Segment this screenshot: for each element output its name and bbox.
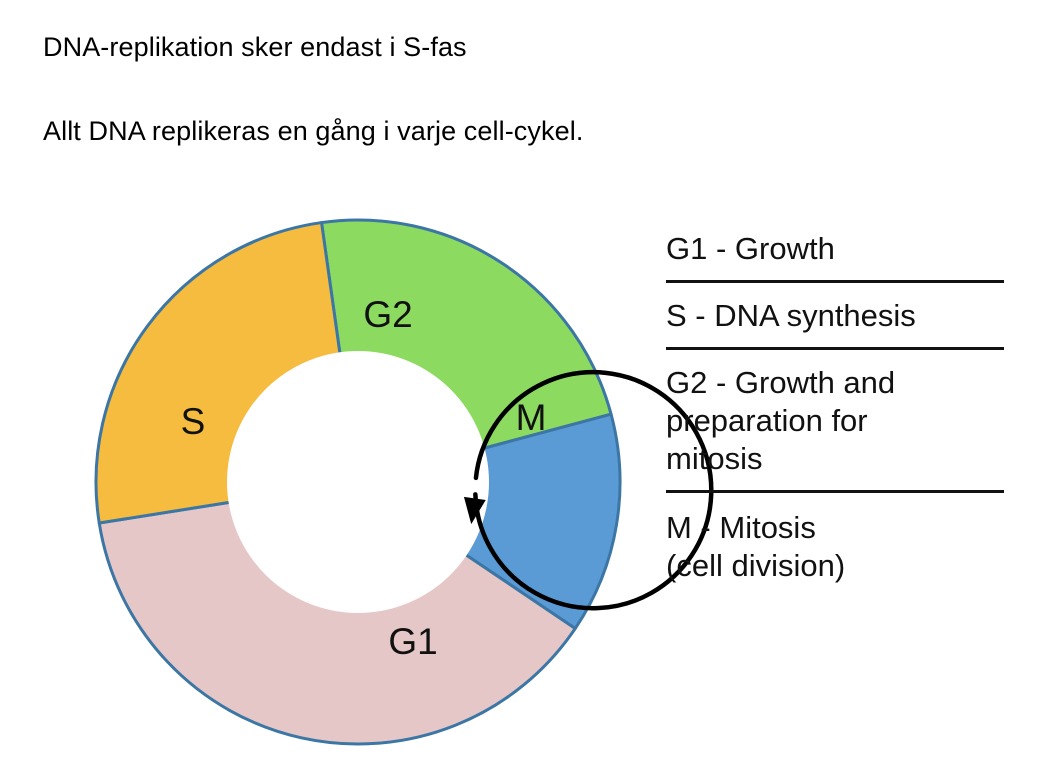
slice-label-m: M: [516, 397, 547, 438]
legend-divider-3: [666, 490, 1004, 493]
legend-entry-g1-text: G1 - Growth: [666, 231, 835, 266]
legend-entry-g2-text-line3: mitosis: [666, 440, 1011, 478]
phase-legend: G1 - Growth S - DNA synthesis G2 - Growt…: [666, 228, 1011, 591]
legend-entry-m-text-line2: (cell division): [666, 547, 1011, 585]
heading-line-2: Allt DNA replikeras en gång i varje cell…: [43, 114, 943, 148]
legend-divider-1: [666, 280, 1004, 283]
slice-label-g2: G2: [363, 294, 412, 335]
inner-gap-circle: [227, 351, 489, 613]
legend-entry-g2-text-line2: preparation for: [666, 402, 1011, 440]
legend-entry-s-text: S - DNA synthesis: [666, 298, 916, 333]
legend-entry-m: M - Mitosis (cell division): [666, 503, 1011, 591]
cell-cycle-donut-chart: G2 M G1 S: [88, 212, 633, 757]
legend-entry-g2: G2 - Growth and preparation for mitosis: [666, 360, 1011, 484]
slice-label-g1: G1: [388, 621, 437, 662]
legend-entry-s: S - DNA synthesis: [666, 293, 1011, 341]
legend-entry-m-text-line1: M - Mitosis: [666, 510, 816, 545]
heading-block: DNA-replikation sker endast i S-fas Allt…: [43, 30, 943, 148]
slice-label-s: S: [181, 401, 206, 442]
legend-divider-2: [666, 347, 1004, 350]
heading-line-1: DNA-replikation sker endast i S-fas: [43, 30, 943, 64]
slide-canvas: DNA-replikation sker endast i S-fas Allt…: [0, 0, 1060, 770]
legend-entry-g2-text-line1: G2 - Growth and: [666, 365, 895, 400]
donut-svg: G2 M G1 S: [88, 212, 633, 757]
legend-entry-g1: G1 - Growth: [666, 228, 1011, 274]
